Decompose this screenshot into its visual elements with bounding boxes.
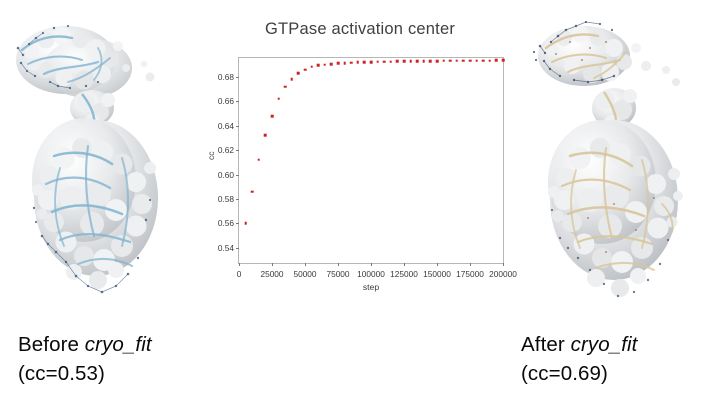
data-point (462, 59, 465, 62)
data-point (409, 60, 412, 63)
y-tick-label: 0.66 (218, 96, 234, 106)
y-tick-label: 0.54 (218, 243, 234, 253)
data-point (310, 65, 313, 68)
x-tick-label: 175000 (456, 269, 484, 279)
data-point (442, 60, 445, 63)
x-tick-mark (272, 263, 273, 266)
data-point (264, 134, 267, 137)
x-tick-mark (239, 263, 240, 266)
y-tick-label: 0.62 (218, 145, 234, 155)
y-tick-mark (236, 101, 239, 102)
data-point (403, 60, 406, 63)
data-point (291, 78, 294, 81)
y-tick-label: 0.68 (218, 72, 234, 82)
x-tick-label: 100000 (357, 269, 385, 279)
data-point (357, 61, 360, 64)
data-point (489, 59, 492, 62)
data-point (429, 60, 432, 63)
density-map-svg-before (0, 8, 198, 318)
data-point (469, 59, 472, 62)
caption-before: Before cryo_fit (cc=0.53) (18, 330, 152, 388)
data-point (456, 59, 459, 62)
data-point (330, 63, 333, 66)
data-point (363, 61, 366, 64)
x-axis-label: step (238, 282, 504, 292)
plot-area: 0.540.560.580.600.620.640.660.68 0250005… (238, 57, 504, 264)
x-tick-mark (470, 263, 471, 266)
data-point (277, 98, 280, 101)
data-point (297, 72, 300, 75)
data-point (436, 60, 439, 63)
data-point (271, 115, 274, 118)
y-tick-mark (236, 150, 239, 151)
x-tick-mark (503, 263, 504, 266)
data-point (449, 60, 452, 63)
lower-lobe-before (32, 118, 158, 293)
x-tick-mark (338, 263, 339, 266)
x-tick-label: 0 (237, 269, 242, 279)
structure-image-before (0, 8, 198, 318)
x-tick-mark (305, 263, 306, 266)
x-tick-mark (437, 263, 438, 266)
y-tick-label: 0.60 (218, 170, 234, 180)
data-point (343, 62, 346, 65)
y-axis-label: cc (206, 151, 216, 160)
x-tick-label: 150000 (423, 269, 451, 279)
caption-after-prefix: After (521, 333, 571, 356)
y-tick-label: 0.56 (218, 218, 234, 228)
density-map-svg-after (518, 8, 718, 318)
data-point (376, 60, 379, 63)
data-point (390, 60, 393, 63)
caption-after-cc: (cc=0.69) (521, 359, 637, 388)
data-point (284, 85, 287, 88)
data-point (251, 190, 254, 193)
x-tick-label: 75000 (326, 269, 349, 279)
x-tick-mark (371, 263, 372, 266)
convergence-chart: GTPase activation center cc step 0.540.5… (204, 10, 516, 298)
caption-after-emphasis: cryo_fit (571, 333, 638, 356)
x-tick-label: 50000 (293, 269, 316, 279)
data-point (482, 59, 485, 62)
caption-before-emphasis: cryo_fit (85, 333, 152, 356)
data-point (423, 60, 426, 63)
y-tick-mark (236, 175, 239, 176)
caption-before-prefix: Before (18, 333, 85, 356)
upper-lobe-after (533, 21, 680, 86)
upper-lobe-before (16, 25, 155, 98)
x-tick-mark (404, 263, 405, 266)
y-tick-mark (236, 199, 239, 200)
lower-lobe-after (548, 120, 683, 297)
caption-after: After cryo_fit (cc=0.69) (521, 330, 637, 388)
data-point (258, 159, 261, 162)
data-point (370, 61, 373, 64)
y-tick-label: 0.64 (218, 121, 234, 131)
data-point (317, 64, 320, 67)
caption-before-cc: (cc=0.53) (18, 359, 152, 388)
x-tick-label: 25000 (260, 269, 283, 279)
y-tick-mark (236, 77, 239, 78)
data-point (350, 61, 353, 64)
data-point (337, 62, 340, 65)
data-point (304, 68, 307, 71)
data-point (475, 59, 478, 62)
data-point (396, 60, 399, 63)
structure-image-after (518, 8, 718, 318)
y-tick-mark (236, 223, 239, 224)
y-tick-label: 0.58 (218, 194, 234, 204)
data-point (416, 60, 419, 63)
data-point (383, 60, 386, 63)
data-point (244, 222, 247, 225)
x-tick-label: 125000 (390, 269, 418, 279)
x-tick-label: 200000 (489, 269, 517, 279)
y-tick-mark (236, 126, 239, 127)
data-point (495, 59, 498, 62)
data-point (324, 63, 327, 66)
chart-title: GTPase activation center (204, 20, 516, 39)
data-point (502, 59, 505, 62)
figure-root: GTPase activation center cc step 0.540.5… (0, 0, 720, 409)
y-tick-mark (236, 248, 239, 249)
